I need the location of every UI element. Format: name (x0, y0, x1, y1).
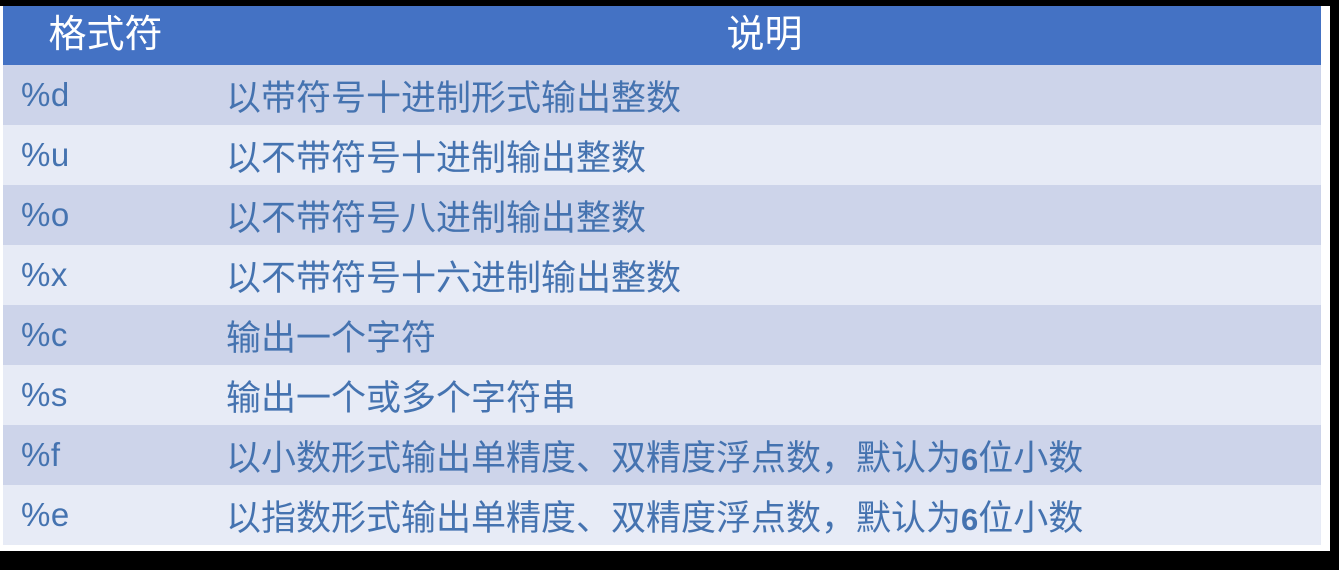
cell-format-specifier: %e (3, 485, 208, 545)
table-header: 格式符 说明 (3, 6, 1321, 65)
cell-description: 输出一个或多个字符串 (208, 365, 1321, 425)
column-header-description: 说明 (208, 6, 1321, 65)
description-text-suffix: 位小数 (978, 499, 1083, 538)
table-row: %x 以不带符号十六进制输出整数 (3, 245, 1321, 305)
cell-description: 以不带符号八进制输出整数 (208, 185, 1321, 245)
cell-format-specifier: %f (3, 425, 208, 485)
cell-format-specifier: %d (3, 65, 208, 125)
slide-frame: 格式符 说明 %d 以带符号十进制形式输出整数 %u 以不带符号十进制输出整数 … (0, 0, 1339, 570)
cell-description: 以不带符号十进制输出整数 (208, 125, 1321, 185)
description-digit: 6 (961, 442, 978, 477)
description-text-prefix: 以指数形式输出单精度、双精度浮点数，默认为 (226, 499, 961, 538)
column-header-format-specifier: 格式符 (3, 6, 208, 65)
cell-description: 以带符号十进制形式输出整数 (208, 65, 1321, 125)
table-row: %o 以不带符号八进制输出整数 (3, 185, 1321, 245)
table-row: %e 以指数形式输出单精度、双精度浮点数，默认为6位小数 (3, 485, 1321, 545)
cell-description: 以小数形式输出单精度、双精度浮点数，默认为6位小数 (208, 425, 1321, 485)
cell-format-specifier: %u (3, 125, 208, 185)
table-body: %d 以带符号十进制形式输出整数 %u 以不带符号十进制输出整数 %o 以不带符… (3, 65, 1321, 545)
table-row: %d 以带符号十进制形式输出整数 (3, 65, 1321, 125)
table-row: %c 输出一个字符 (3, 305, 1321, 365)
cell-format-specifier: %c (3, 305, 208, 365)
description-text-prefix: 以小数形式输出单精度、双精度浮点数，默认为 (226, 439, 961, 478)
cell-format-specifier: %o (3, 185, 208, 245)
description-digit: 6 (961, 502, 978, 537)
cell-format-specifier: %x (3, 245, 208, 305)
cell-description: 以不带符号十六进制输出整数 (208, 245, 1321, 305)
table-row: %s 输出一个或多个字符串 (3, 365, 1321, 425)
table-row: %f 以小数形式输出单精度、双精度浮点数，默认为6位小数 (3, 425, 1321, 485)
cell-description: 输出一个字符 (208, 305, 1321, 365)
format-specifier-table: 格式符 说明 %d 以带符号十进制形式输出整数 %u 以不带符号十进制输出整数 … (3, 6, 1321, 545)
cell-description: 以指数形式输出单精度、双精度浮点数，默认为6位小数 (208, 485, 1321, 545)
table-row: %u 以不带符号十进制输出整数 (3, 125, 1321, 185)
cell-format-specifier: %s (3, 365, 208, 425)
table-header-row: 格式符 说明 (3, 6, 1321, 65)
description-text-suffix: 位小数 (978, 439, 1083, 478)
slide-canvas: 格式符 说明 %d 以带符号十进制形式输出整数 %u 以不带符号十进制输出整数 … (0, 6, 1330, 551)
